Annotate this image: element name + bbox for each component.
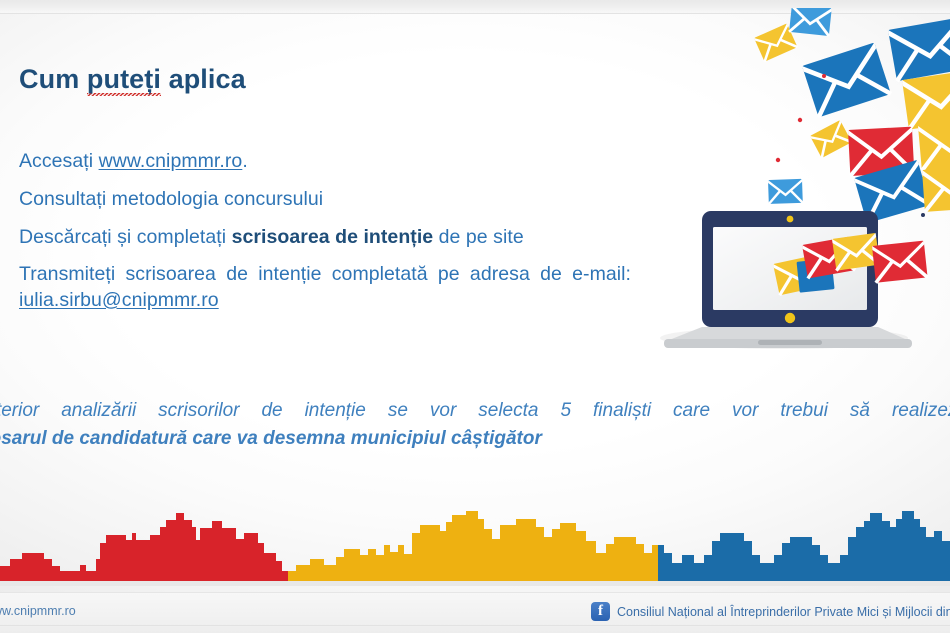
bullet-4-prefix: Transmiteți scrisoarea de intenție compl… bbox=[19, 263, 631, 285]
footer-organization-name: Consiliul Național al Întreprinderilor P… bbox=[617, 605, 950, 619]
footer-bar: www.cnipmmr.ro Consiliul Național al Înt… bbox=[0, 592, 950, 633]
laptop-camera-dot bbox=[787, 216, 794, 223]
dot-red-1 bbox=[798, 118, 802, 122]
bullet-1-suffix: . bbox=[242, 150, 247, 172]
skyline-red-section bbox=[0, 513, 288, 581]
envelope-yellow-small-2 bbox=[810, 120, 852, 158]
footer-organization: Consiliul Național al Întreprinderilor P… bbox=[591, 602, 950, 621]
laptop-envelopes-illustration bbox=[650, 8, 950, 353]
callout-line-2: dosarul de candidatură care va desemna m… bbox=[0, 425, 950, 453]
envelope-blue-small-2 bbox=[768, 179, 803, 204]
envelope-blue-small-1 bbox=[789, 8, 832, 36]
laptop-trackpad bbox=[758, 340, 822, 345]
dot-red-3 bbox=[822, 74, 826, 78]
callout-line-1: Ulterior analizării scrisorilor de inten… bbox=[0, 397, 950, 425]
skyline-ground-line bbox=[0, 581, 950, 586]
envelope-blue-large-1 bbox=[802, 43, 891, 118]
title-suffix: aplica bbox=[161, 64, 246, 94]
callout-paragraph: Ulterior analizării scrisorilor de inten… bbox=[0, 397, 950, 452]
envelope-yellow-large-3 bbox=[922, 166, 950, 212]
bullet-3-prefix: Descărcați și completați bbox=[19, 226, 232, 248]
bullet-1-prefix: Accesați bbox=[19, 150, 99, 172]
title-prefix: Cum bbox=[19, 64, 87, 94]
slide-canvas: Cum puteți aplica Accesați www.cnipmmr.r… bbox=[0, 0, 950, 633]
website-link[interactable]: www.cnipmmr.ro bbox=[99, 150, 243, 172]
footer-bottom-divider bbox=[0, 625, 950, 626]
envelope-yellow-large-2 bbox=[918, 121, 950, 171]
skyline-yellow-section bbox=[288, 511, 658, 581]
envelope-group-top bbox=[754, 8, 950, 223]
dot-red-2 bbox=[776, 158, 780, 162]
bullet-line-3: Descărcați și completați scrisoarea de i… bbox=[19, 226, 524, 249]
title-misspelled-word: puteți bbox=[87, 64, 161, 97]
page-title: Cum puteți aplica bbox=[19, 64, 246, 95]
envelope-screen-red-2 bbox=[872, 241, 928, 283]
bullet-3-suffix: de pe site bbox=[433, 226, 524, 248]
bullet-line-4: Transmiteți scrisoarea de intenție compl… bbox=[19, 262, 631, 313]
dot-navy-1 bbox=[921, 213, 925, 217]
laptop-hinge-dot bbox=[785, 313, 795, 323]
city-skyline-graphic bbox=[0, 497, 950, 592]
skyline-blue-section bbox=[658, 511, 950, 581]
bullet-line-1: Accesați www.cnipmmr.ro. bbox=[19, 150, 248, 173]
envelope-blue-large-2 bbox=[888, 17, 950, 81]
bullet-line-2: Consultați metodologia concursului bbox=[19, 188, 323, 211]
bullet-3-emphasis: scrisoarea de intenție bbox=[232, 226, 434, 248]
email-link[interactable]: iulia.sirbu@cnipmmr.ro bbox=[19, 289, 219, 311]
facebook-icon[interactable] bbox=[591, 602, 610, 621]
envelope-yellow-large-1 bbox=[902, 70, 950, 129]
footer-website-url[interactable]: www.cnipmmr.ro bbox=[0, 604, 76, 618]
